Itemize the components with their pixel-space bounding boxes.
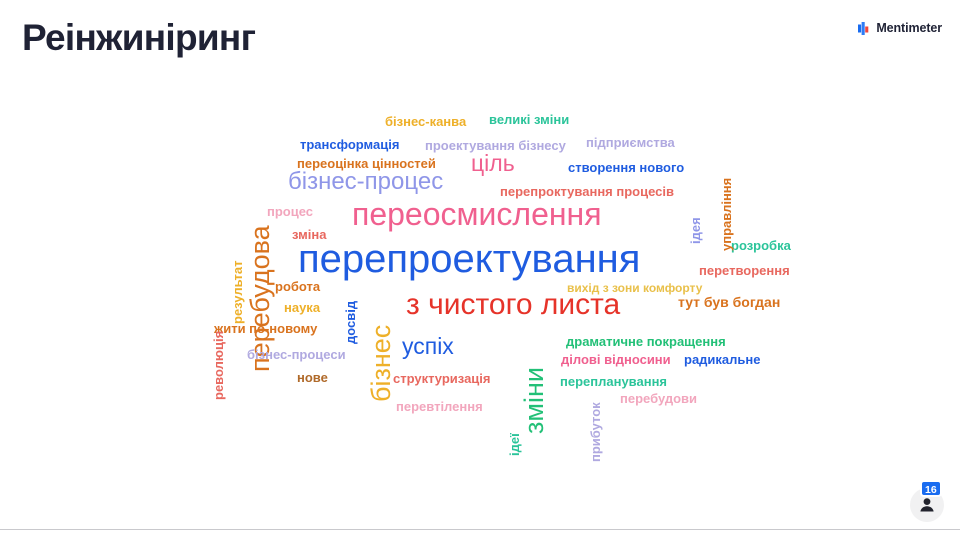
- word-cloud-item[interactable]: ідея: [689, 217, 702, 244]
- word-cloud-item[interactable]: перепроктування процесів: [500, 185, 674, 198]
- word-cloud-item[interactable]: перепланування: [560, 375, 667, 388]
- word-cloud-item[interactable]: ділові відносини: [561, 353, 671, 366]
- page-title: Реінжиніринг: [22, 17, 255, 59]
- word-cloud-item[interactable]: трансформація: [300, 138, 399, 151]
- word-cloud-item[interactable]: управління: [720, 178, 733, 251]
- slide-canvas: Реінжиніринг Mentimeter перепроектування…: [0, 0, 960, 540]
- word-cloud-item[interactable]: результат: [231, 261, 244, 324]
- word-cloud-item[interactable]: тут був богдан: [678, 295, 780, 309]
- word-cloud-item[interactable]: робота: [275, 280, 320, 293]
- word-cloud-item[interactable]: вихід з зони комфорту: [567, 282, 702, 294]
- word-cloud-item[interactable]: перебудови: [620, 392, 697, 405]
- word-cloud-item[interactable]: революція: [212, 331, 225, 400]
- word-cloud-item[interactable]: нове: [297, 371, 328, 384]
- word-cloud-item[interactable]: перетворення: [699, 264, 790, 277]
- word-cloud-item[interactable]: підприємства: [586, 136, 675, 149]
- word-cloud-item[interactable]: переоцінка цінностей: [297, 157, 436, 170]
- word-cloud-item[interactable]: досвід: [344, 301, 357, 344]
- participant-count-badge: 16: [920, 480, 942, 497]
- word-cloud[interactable]: перепроектуванняпереосмисленняз чистого …: [0, 82, 960, 472]
- word-cloud-item[interactable]: проектування бізнесу: [425, 139, 566, 152]
- mentimeter-logo-icon: [858, 22, 871, 35]
- mentimeter-brand: Mentimeter: [858, 21, 942, 35]
- word-cloud-item[interactable]: успіх: [402, 335, 454, 358]
- brand-name: Mentimeter: [876, 21, 942, 35]
- word-cloud-item[interactable]: ціль: [471, 152, 515, 175]
- word-cloud-item[interactable]: великі зміни: [489, 113, 569, 126]
- word-cloud-item[interactable]: розробка: [731, 239, 791, 252]
- word-cloud-item[interactable]: зміни: [521, 367, 548, 434]
- word-cloud-item[interactable]: драматичне покращення: [566, 335, 726, 348]
- word-cloud-item[interactable]: радикальне: [684, 353, 760, 366]
- word-cloud-item[interactable]: переосмислення: [352, 198, 602, 230]
- participant-counter[interactable]: 16: [910, 488, 944, 522]
- footer-divider: [0, 529, 960, 530]
- word-cloud-item[interactable]: структуризація: [393, 372, 491, 385]
- word-cloud-item[interactable]: зміна: [292, 228, 326, 241]
- word-cloud-item[interactable]: бізнес-канва: [385, 115, 466, 128]
- word-cloud-item[interactable]: ідеї: [508, 433, 521, 456]
- word-cloud-item[interactable]: створення нового: [568, 161, 684, 174]
- word-cloud-item[interactable]: бізнес-процеси: [247, 348, 346, 361]
- word-cloud-item[interactable]: бізнес: [368, 325, 395, 402]
- word-cloud-item[interactable]: прибуток: [589, 402, 602, 462]
- word-cloud-item[interactable]: наука: [284, 301, 320, 314]
- word-cloud-item[interactable]: перепроектування: [298, 239, 640, 279]
- word-cloud-item[interactable]: процес: [267, 205, 313, 218]
- word-cloud-item[interactable]: перевтілення: [396, 400, 483, 413]
- word-cloud-item[interactable]: бізнес-процес: [288, 170, 443, 194]
